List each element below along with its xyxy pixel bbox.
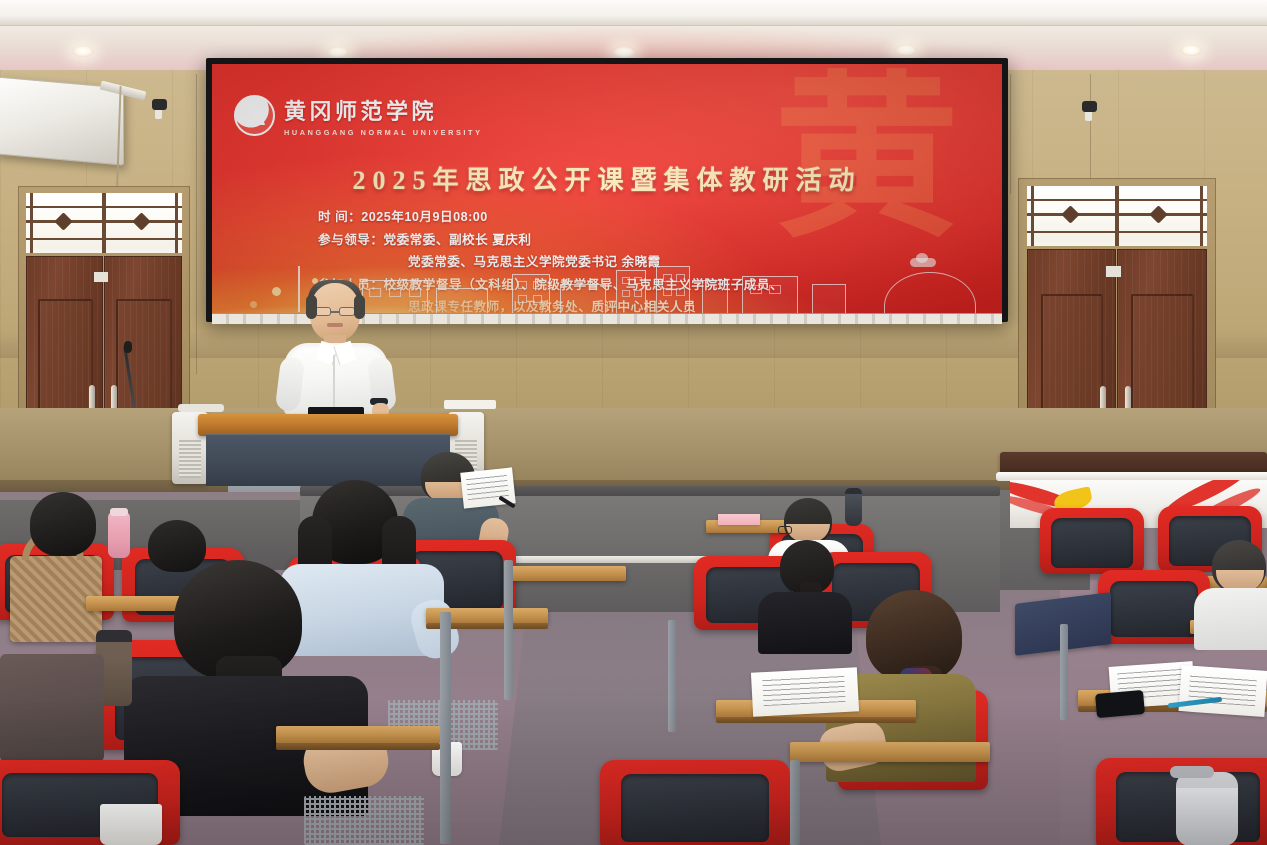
ceiling-downlight-icon xyxy=(613,47,635,58)
wall-seam xyxy=(196,74,197,374)
attendee-right-dark xyxy=(762,540,846,642)
eyeglasses-icon xyxy=(778,526,792,534)
under-desk-basket xyxy=(304,796,424,845)
door-lock-plate xyxy=(94,272,108,282)
smartphone[interactable] xyxy=(1095,690,1145,718)
eyeglass-lens-right xyxy=(339,307,355,316)
seat[interactable] xyxy=(1040,508,1144,574)
wall-seam xyxy=(1010,74,1011,194)
desk-frame xyxy=(504,560,513,700)
attendee-left-row2 xyxy=(16,492,106,564)
microphone-icon xyxy=(124,341,132,353)
desk-frame xyxy=(1060,624,1068,720)
ceiling-downlight-icon xyxy=(1180,45,1202,56)
presenter-hair-side xyxy=(354,295,365,319)
desk-frame xyxy=(668,620,676,732)
desk xyxy=(276,726,440,744)
ceiling-downlight-icon xyxy=(72,46,94,57)
lectern-tray-item xyxy=(178,404,224,412)
door-transom-window xyxy=(1027,186,1207,246)
attendee-far-right xyxy=(1190,540,1267,644)
desk-edge xyxy=(276,743,440,750)
thermos-lid xyxy=(110,508,128,516)
door-transom-window xyxy=(26,193,182,253)
lectern-paper xyxy=(444,400,496,409)
paper-cup[interactable] xyxy=(100,804,162,845)
desk-edge xyxy=(716,717,916,723)
dark-thermos[interactable] xyxy=(1176,772,1238,845)
security-camera-icon xyxy=(152,99,167,110)
pink-thermos[interactable] xyxy=(108,512,130,558)
door-lock-plate xyxy=(1106,266,1121,277)
desk-frame xyxy=(440,612,451,844)
seat-left-partial[interactable] xyxy=(0,654,104,762)
eyeglass-lens-left xyxy=(315,307,331,316)
presenter-hair-side xyxy=(306,295,317,319)
notebook[interactable] xyxy=(751,667,859,716)
lecture-hall-photo: 黄 黄冈师范学院 HUANGGANG NORMAL UNIVERSITY 202… xyxy=(0,0,1267,845)
screen-vignette xyxy=(212,64,1002,314)
dark-thermos xyxy=(845,488,862,526)
handout-paper xyxy=(718,514,760,525)
desk xyxy=(506,566,626,581)
ceiling-soffit xyxy=(0,0,1267,26)
security-camera-icon xyxy=(1082,101,1097,112)
desk-frame xyxy=(790,760,800,845)
handout-paper[interactable] xyxy=(1179,665,1267,717)
led-screen: 黄 黄冈师范学院 HUANGGANG NORMAL UNIVERSITY 202… xyxy=(212,64,1002,314)
ceiling-downlight-icon xyxy=(895,45,917,56)
presenter xyxy=(270,283,400,415)
lectern-top xyxy=(198,414,458,436)
presenter-head xyxy=(310,283,360,341)
seat[interactable] xyxy=(600,760,790,845)
ceiling-downlight-icon xyxy=(327,47,349,58)
desk xyxy=(790,742,990,762)
thermos-handle xyxy=(1170,766,1214,778)
